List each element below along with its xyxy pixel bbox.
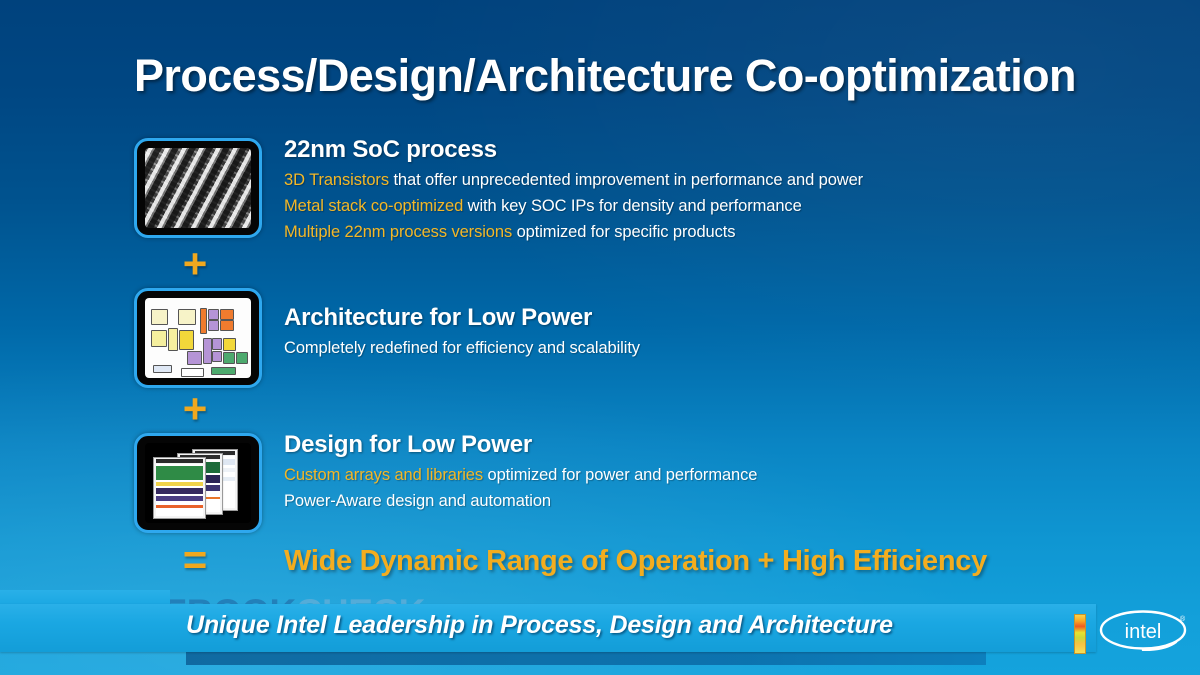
eda-waveform-windows-thumbnail[interactable] [134, 433, 262, 533]
bullet-rest: Power-Aware design and automation [284, 492, 551, 510]
equals-sign-icon: = [134, 539, 256, 581]
sem-fin-texture-icon [145, 148, 251, 228]
plus-sign-icon: + [134, 243, 256, 285]
block-bullet: Metal stack co-optimized with key SOC IP… [284, 197, 1200, 216]
block-bullet: Custom arrays and libraries optimized fo… [284, 466, 1200, 485]
bullet-highlight: 3D Transistors [284, 171, 389, 189]
footer-bar-shadow [186, 651, 986, 665]
thumbnail-image-area [145, 443, 251, 523]
block-text-22nm-soc-process: 22nm SoC process 3D Transistors that off… [284, 136, 1200, 242]
bullet-rest: Completely redefined for efficiency and … [284, 339, 640, 357]
architecture-block-diagram-thumbnail[interactable] [134, 288, 262, 388]
footer-tagline: Unique Intel Leadership in Process, Desi… [186, 611, 893, 640]
conclusion-statement: Wide Dynamic Range of Operation + High E… [284, 545, 987, 578]
block-diagram-icon [145, 298, 251, 378]
sem-3d-transistor-fins-thumbnail[interactable] [134, 138, 262, 238]
block-heading: Design for Low Power [284, 431, 1200, 459]
bullet-rest: that offer unprecedented improvement in … [389, 171, 863, 189]
block-text-architecture-for-low-power: Architecture for Low Power Completely re… [284, 304, 1200, 358]
bullet-highlight: Custom arrays and libraries [284, 466, 483, 484]
page-title: Process/Design/Architecture Co-optimizat… [134, 50, 1134, 102]
bullet-highlight: Multiple 22nm process versions [284, 223, 512, 241]
waveform-windows-icon [145, 443, 251, 523]
thumbnail-image-area [145, 148, 251, 228]
block-text-design-for-low-power: Design for Low Power Custom arrays and l… [284, 431, 1200, 511]
intel-logo: intel ® [1098, 609, 1188, 651]
block-bullet: Power-Aware design and automation [284, 492, 1200, 511]
block-bullet: 3D Transistors that offer unprecedented … [284, 171, 1200, 190]
block-bullet: Multiple 22nm process versions optimized… [284, 223, 1200, 242]
thumbnail-image-area [145, 298, 251, 378]
block-bullet: Completely redefined for efficiency and … [284, 339, 1200, 358]
intel-logo-trademark: ® [1180, 615, 1186, 623]
slide-canvas: Process/Design/Architecture Co-optimizat… [0, 0, 1200, 675]
bullet-rest: optimized for specific products [512, 223, 735, 241]
block-heading: 22nm SoC process [284, 136, 1200, 164]
intel-logo-text: intel [1125, 621, 1162, 643]
bullet-highlight: Metal stack co-optimized [284, 197, 463, 215]
bullet-rest: with key SOC IPs for density and perform… [463, 197, 801, 215]
intel-color-strip-icon [1074, 614, 1086, 654]
plus-sign-icon: + [134, 388, 256, 430]
block-heading: Architecture for Low Power [284, 304, 1200, 332]
bullet-rest: optimized for power and performance [483, 466, 757, 484]
